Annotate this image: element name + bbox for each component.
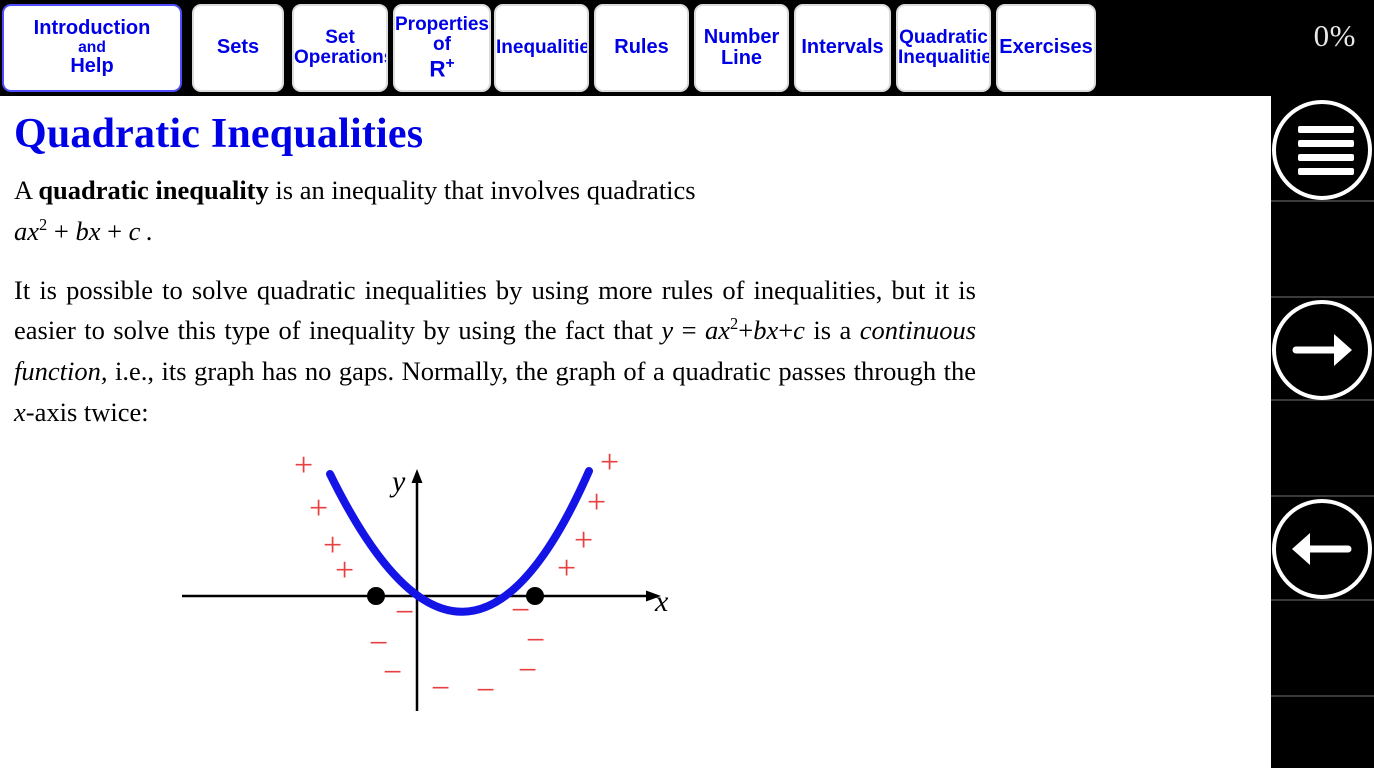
hamburger-bar	[1298, 154, 1354, 161]
next-button[interactable]	[1272, 300, 1372, 400]
top-tab-bar: IntroductionandHelpSetsSetOperationsProp…	[0, 0, 1374, 96]
text-run: A	[14, 175, 38, 205]
tab-label-line: of	[395, 35, 489, 55]
previous-button[interactable]	[1272, 499, 1372, 599]
svg-text:−: −	[383, 654, 402, 691]
application-window: IntroductionandHelpSetsSetOperationsProp…	[0, 0, 1374, 768]
sign-plus-group: ++++ ++++	[294, 451, 619, 589]
tab-number-line[interactable]: NumberLine	[694, 4, 789, 92]
paragraph-definition: A quadratic inequality is an inequality …	[14, 170, 976, 252]
tab-label-line: Set	[294, 28, 386, 48]
tab-label-line: R+	[395, 56, 489, 81]
svg-text:+: +	[309, 490, 328, 527]
text-run-bold: quadratic inequality	[38, 175, 268, 205]
text-run: -axis twice:	[26, 397, 149, 427]
parabola-figure: y x ++++ ++++ −−−− −−−−	[14, 451, 1271, 711]
svg-text:+: +	[294, 451, 313, 484]
tab-label-line: Inequalities	[898, 48, 989, 68]
tab-label-line: Introduction	[4, 18, 180, 39]
hamburger-bar	[1298, 168, 1354, 175]
arrow-right-icon	[1276, 304, 1368, 396]
svg-text:−: −	[518, 652, 537, 689]
tab-sets[interactable]: Sets	[192, 4, 284, 92]
rail-divider	[1271, 200, 1374, 202]
text-run: is an inequality that involves quadratic…	[269, 175, 696, 205]
tab-introduction-and-help[interactable]: IntroductionandHelp	[2, 4, 182, 92]
svg-text:−: −	[476, 672, 495, 709]
svg-text:+: +	[600, 451, 619, 481]
tab-rules[interactable]: Rules	[594, 4, 689, 92]
tab-label-line: Inequalities	[496, 38, 587, 58]
rail-divider	[1271, 296, 1374, 298]
arrow-left-icon	[1276, 503, 1368, 595]
svg-text:+: +	[574, 522, 593, 559]
right-side-toolbar	[1271, 96, 1374, 768]
hamburger-bar	[1298, 140, 1354, 147]
tab-label-line: Operations	[294, 48, 386, 68]
text-run: is a	[805, 315, 860, 345]
tab-label-line: Sets	[194, 37, 282, 58]
tab-properties-of-r-plus[interactable]: PropertiesofR+	[393, 4, 491, 92]
page-title: Quadratic Inequalities	[14, 110, 1245, 158]
svg-text:−: −	[395, 594, 414, 631]
tab-quadratic-inequalities[interactable]: QuadraticInequalities	[896, 4, 991, 92]
text-run: i.e., its graph has no gaps. Normally, t…	[107, 356, 976, 386]
svg-text:+: +	[587, 484, 606, 521]
svg-text:x: x	[654, 585, 669, 618]
svg-text:y: y	[389, 465, 406, 498]
menu-button[interactable]	[1272, 100, 1372, 200]
tab-label-line: Quadratic	[898, 28, 989, 48]
tab-label-line: and	[4, 40, 180, 57]
rail-divider	[1271, 695, 1374, 697]
tab-label-line: Intervals	[796, 37, 889, 58]
lesson-page: Quadratic Inequalities A quadratic inequ…	[0, 96, 1271, 768]
tab-label-line: Rules	[596, 37, 687, 58]
paragraph-explanation: It is possible to solve quadratic inequa…	[14, 270, 976, 433]
root-point-left	[367, 587, 385, 605]
tab-exercises[interactable]: Exercises	[996, 4, 1096, 92]
rail-divider	[1271, 495, 1374, 497]
tab-inequalities[interactable]: Inequalities	[494, 4, 589, 92]
svg-text:+: +	[335, 552, 354, 589]
hamburger-bar	[1298, 126, 1354, 133]
tab-set-operations[interactable]: SetOperations	[292, 4, 388, 92]
svg-text:+: +	[557, 550, 576, 587]
tab-label-line: Exercises	[998, 37, 1094, 58]
tab-label-line: Properties	[395, 15, 489, 35]
tab-label-line: Help	[4, 56, 180, 77]
tab-intervals[interactable]: Intervals	[794, 4, 891, 92]
tab-label-line: Number	[696, 27, 787, 48]
progress-percentage: 0%	[1314, 18, 1356, 54]
tab-label-line: Line	[696, 48, 787, 69]
svg-text:−: −	[431, 670, 450, 707]
